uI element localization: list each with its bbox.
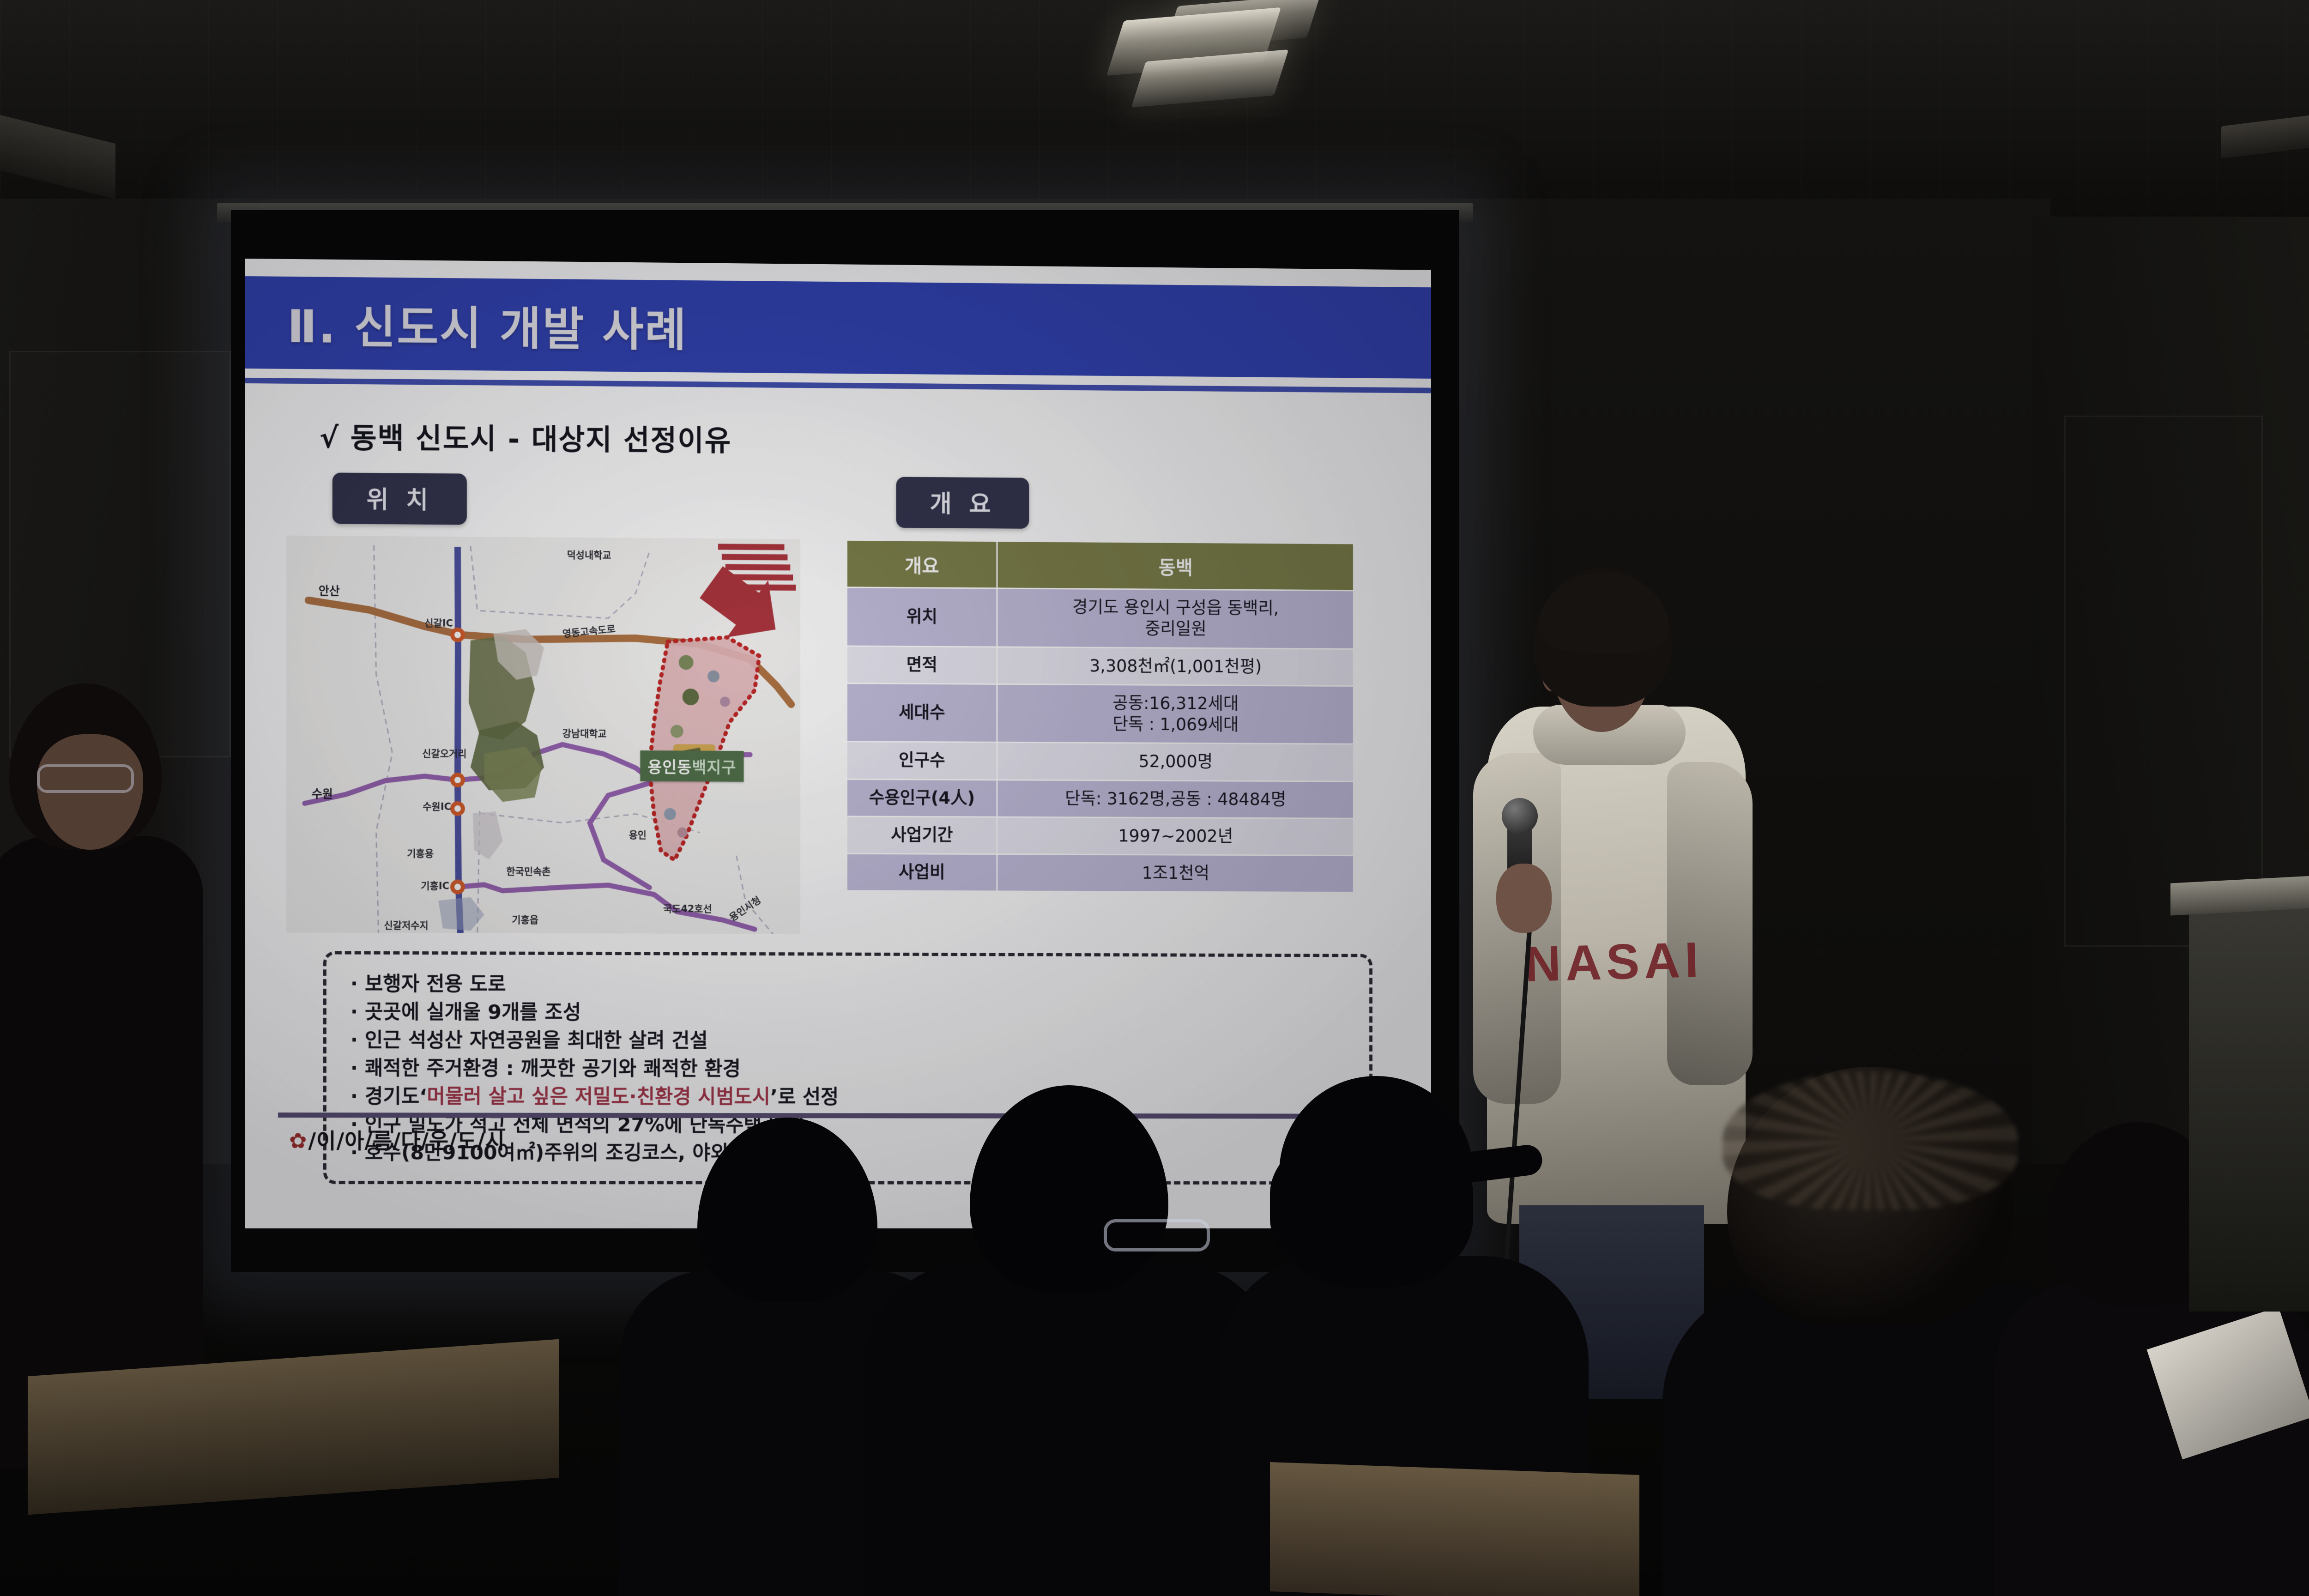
note-pre: 경기도‘ <box>365 1085 427 1108</box>
table-header-value: 동백 <box>997 541 1354 591</box>
row-key: 위치 <box>846 587 997 647</box>
overview-section: 개 요 개요 동백 위치 경기도 용인시 구성읍 동백리, <box>837 477 1372 894</box>
list-item: 쾌적한 주거환경 : 깨끗한 공기와 쾌적한 환경 <box>351 1055 1351 1084</box>
map-label-korean-folk-village: 한국민속촌 <box>506 864 550 878</box>
microphone-head-icon <box>1502 798 1538 834</box>
eyeglasses-icon <box>37 764 134 793</box>
map-label-giheung-ic: 기흥IC <box>421 878 449 892</box>
table-head: 개요 동백 <box>846 540 1354 590</box>
location-map: 안산 신갈IC 영동고속도로 덕성내학교 수원 신갈오거리 수원IC 강남대학교… <box>286 536 800 934</box>
row-value: 1997~2002년 <box>997 817 1354 856</box>
overview-table: 개요 동백 위치 경기도 용인시 구성읍 동백리,중리일원 면적 3 <box>846 539 1354 893</box>
row-value: 경기도 용인시 구성읍 동백리,중리일원 <box>997 588 1354 649</box>
audience-head <box>697 1118 877 1302</box>
location-section: 위 치 <box>277 472 810 934</box>
footer-label: /이/아/름/다/운/도/시 <box>308 1128 505 1153</box>
page-title: Ⅱ. 신도시 개발 사례 <box>245 290 688 359</box>
row-value: 1조1천억 <box>997 854 1354 893</box>
list-item: 보행자 전용 도로 <box>351 970 1351 1001</box>
audience-body <box>864 1261 1279 1596</box>
map-label-yongin: 용인 <box>629 828 647 841</box>
desk <box>1270 1462 1639 1596</box>
location-chip-wrap: 위 치 <box>332 472 810 539</box>
presenter-sleeve-right <box>1667 762 1753 1085</box>
list-item: 인근 석성산 자연공원을 최대한 살려 건설 <box>351 1027 1351 1057</box>
map-label-deokseong-univ: 덕성내학교 <box>567 548 611 562</box>
map-label-singal-ogeori: 신갈오거리 <box>422 746 466 760</box>
table-row: 수용인구(4人) 단독: 3162명,공동 : 48484명 <box>846 779 1354 818</box>
slide-columns: 위 치 <box>277 472 1400 936</box>
row-key: 인구수 <box>846 742 997 780</box>
table-row: 사업기간 1997~2002년 <box>846 816 1354 856</box>
table-body: 위치 경기도 용인시 구성읍 동백리,중리일원 면적 3,308천㎡(1,001… <box>846 587 1354 893</box>
table-row: 사업비 1조1천억 <box>846 853 1354 892</box>
site-tag-suffix: 백지구 <box>692 759 736 777</box>
note-highlight: 머물러 살고 싶은 저밀도·친환경 시범도시 <box>427 1085 770 1109</box>
map-label-singal-reservoir: 신갈저수지 <box>384 918 429 932</box>
map-label-suwon: 수원 <box>312 785 333 802</box>
map-label-singal-ic: 신갈IC <box>424 616 453 629</box>
fur-trim <box>1723 1071 2018 1210</box>
map-label-ansan: 안산 <box>319 582 340 598</box>
note-post: ’로 선정 <box>770 1086 839 1109</box>
row-key: 사업기간 <box>846 816 997 854</box>
row-key: 수용인구(4人) <box>846 779 997 817</box>
presenter-hand <box>1496 864 1552 933</box>
row-value: 공동:16,312세대단독 : 1,069세대 <box>997 684 1354 744</box>
audience-member <box>864 1085 1279 1596</box>
slide-subtitle: √ 동백 신도시 - 대상지 선정이유 <box>320 414 1400 464</box>
table-header-row: 개요 동백 <box>846 540 1354 590</box>
wall-panel <box>2064 416 2263 947</box>
table-row: 면적 3,308천㎡(1,001천평) <box>846 646 1354 686</box>
row-key: 사업비 <box>846 853 997 891</box>
overview-chip-wrap: 개 요 <box>896 477 1372 543</box>
slide-title-bar: Ⅱ. 신도시 개발 사례 <box>245 276 1431 379</box>
table-row: 인구수 52,000명 <box>846 742 1354 781</box>
map-label-kangnam-univ: 강남대학교 <box>562 726 607 740</box>
section-chip-location: 위 치 <box>332 472 467 525</box>
presenter-hair-front <box>1538 573 1669 653</box>
section-chip-overview: 개 요 <box>896 477 1029 529</box>
map-label-suwon-ic: 수원IC <box>423 799 451 813</box>
audience-head <box>970 1085 1168 1293</box>
hoodie-text: NASAI <box>1516 931 1711 993</box>
row-value: 3,308천㎡(1,001천평) <box>997 647 1354 686</box>
row-key: 세대수 <box>846 683 997 742</box>
table-header-key: 개요 <box>846 540 997 588</box>
flower-icon: ✿ <box>289 1128 307 1153</box>
map-label-giheung-eup: 기흥읍 <box>512 913 538 926</box>
row-key: 면적 <box>846 646 997 684</box>
audience-member-left <box>0 683 203 1469</box>
row-value: 단독: 3162명,공동 : 48484명 <box>997 780 1354 818</box>
table-row: 위치 경기도 용인시 구성읍 동백리,중리일원 <box>846 587 1354 649</box>
site-tag-prefix: 용인동 <box>647 758 692 777</box>
eyeglasses-icon <box>1104 1219 1210 1251</box>
table-row: 세대수 공동:16,312세대단독 : 1,069세대 <box>846 683 1354 744</box>
podium <box>2189 896 2309 1312</box>
list-item: 곳곳에 실개울 9개를 조성 <box>351 998 1351 1028</box>
lecture-room: Ⅱ. 신도시 개발 사례 √ 동백 신도시 - 대상지 선정이유 위 치 <box>0 0 2309 1596</box>
map-label-giheung-yong: 기흥용 <box>407 846 434 860</box>
map-label-route-42: 국도42호선 <box>663 901 712 915</box>
map-site-tag-dongbaek: 용인동백지구 <box>640 750 743 782</box>
row-value: 52,000명 <box>997 743 1354 781</box>
